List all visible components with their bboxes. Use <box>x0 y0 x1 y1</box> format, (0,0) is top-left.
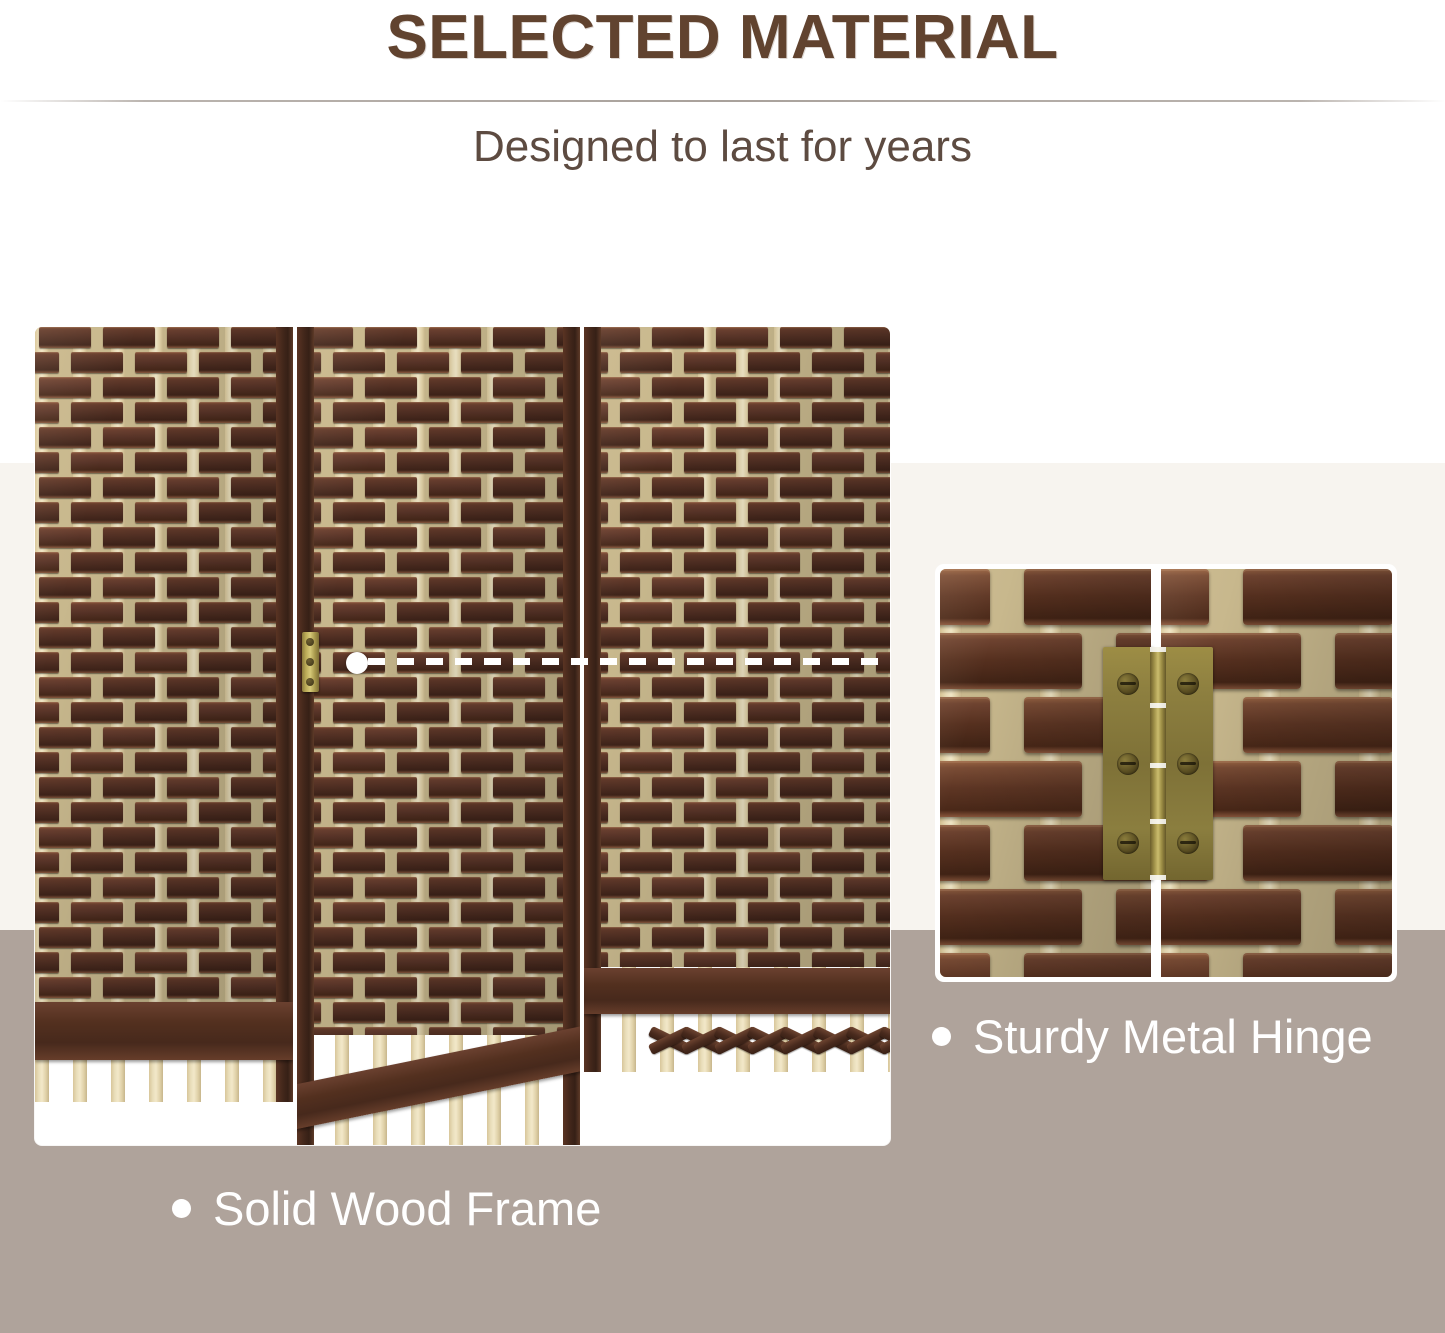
callout-label-text: Solid Wood Frame <box>213 1184 601 1233</box>
hinge-knuckle-segment <box>1150 875 1166 880</box>
wicker-weave-texture <box>584 327 890 1072</box>
product-photo <box>35 327 890 1145</box>
wood-frame-stile <box>276 327 293 1102</box>
hinge-icon <box>302 632 319 692</box>
hinge-knuckle-segment <box>1150 647 1166 652</box>
criss-cross-weave-band <box>584 1018 890 1064</box>
callout-dashed-line <box>368 658 890 665</box>
hinge-screw-icon <box>306 638 314 646</box>
wood-frame-stile <box>584 327 601 1072</box>
hinge-screw-icon <box>306 658 314 666</box>
weave-horizontal-straps <box>584 327 890 1072</box>
page-subtitle: Designed to last for years <box>0 122 1445 172</box>
hinge-knuckle-segment <box>1150 763 1166 768</box>
callout-label-solid-wood-frame: Solid Wood Frame <box>172 1184 601 1233</box>
hinge-screw-icon <box>1117 753 1139 775</box>
callout-label-text: Sturdy Metal Hinge <box>973 1012 1373 1061</box>
weave-horizontal-straps <box>297 327 580 1145</box>
hinge-leaf-right <box>1163 647 1213 880</box>
hinge-knuckle-barrel <box>1150 647 1166 880</box>
wood-frame-rail <box>35 1002 293 1060</box>
divider-panel-right <box>584 327 890 1072</box>
wicker-weave-texture <box>297 327 580 1145</box>
header: SELECTED MATERIAL Designed to last for y… <box>0 0 1445 200</box>
divider-panel-middle <box>297 327 580 1145</box>
hinge-screw-icon <box>1177 673 1199 695</box>
divider-panel-left <box>35 327 293 1102</box>
weave-horizontal-straps <box>35 327 293 1102</box>
page-title: SELECTED MATERIAL <box>0 2 1445 73</box>
wicker-weave-texture <box>35 327 293 1102</box>
bullet-dot-icon <box>932 1027 951 1046</box>
wood-frame-stile <box>563 327 580 1145</box>
brass-hinge-icon <box>1103 647 1213 880</box>
callout-marker-dot <box>346 652 368 674</box>
title-divider <box>0 100 1445 102</box>
hinge-screw-icon <box>1117 673 1139 695</box>
criss-cross-link <box>877 1018 890 1060</box>
hinge-detail-inset <box>935 564 1397 982</box>
callout-label-sturdy-metal-hinge: Sturdy Metal Hinge <box>932 1012 1373 1061</box>
hinge-screw-icon <box>1177 832 1199 854</box>
hinge-screw-icon <box>1177 753 1199 775</box>
hinge-knuckle-segment <box>1150 819 1166 824</box>
wood-frame-rail <box>584 968 890 1014</box>
wood-frame-stile <box>297 327 314 1145</box>
hinge-screw-icon <box>1117 832 1139 854</box>
hinge-screw-icon <box>306 678 314 686</box>
hinge-knuckle-segment <box>1150 703 1166 708</box>
bullet-dot-icon <box>172 1199 191 1218</box>
hinge-leaf-left <box>1103 647 1153 880</box>
